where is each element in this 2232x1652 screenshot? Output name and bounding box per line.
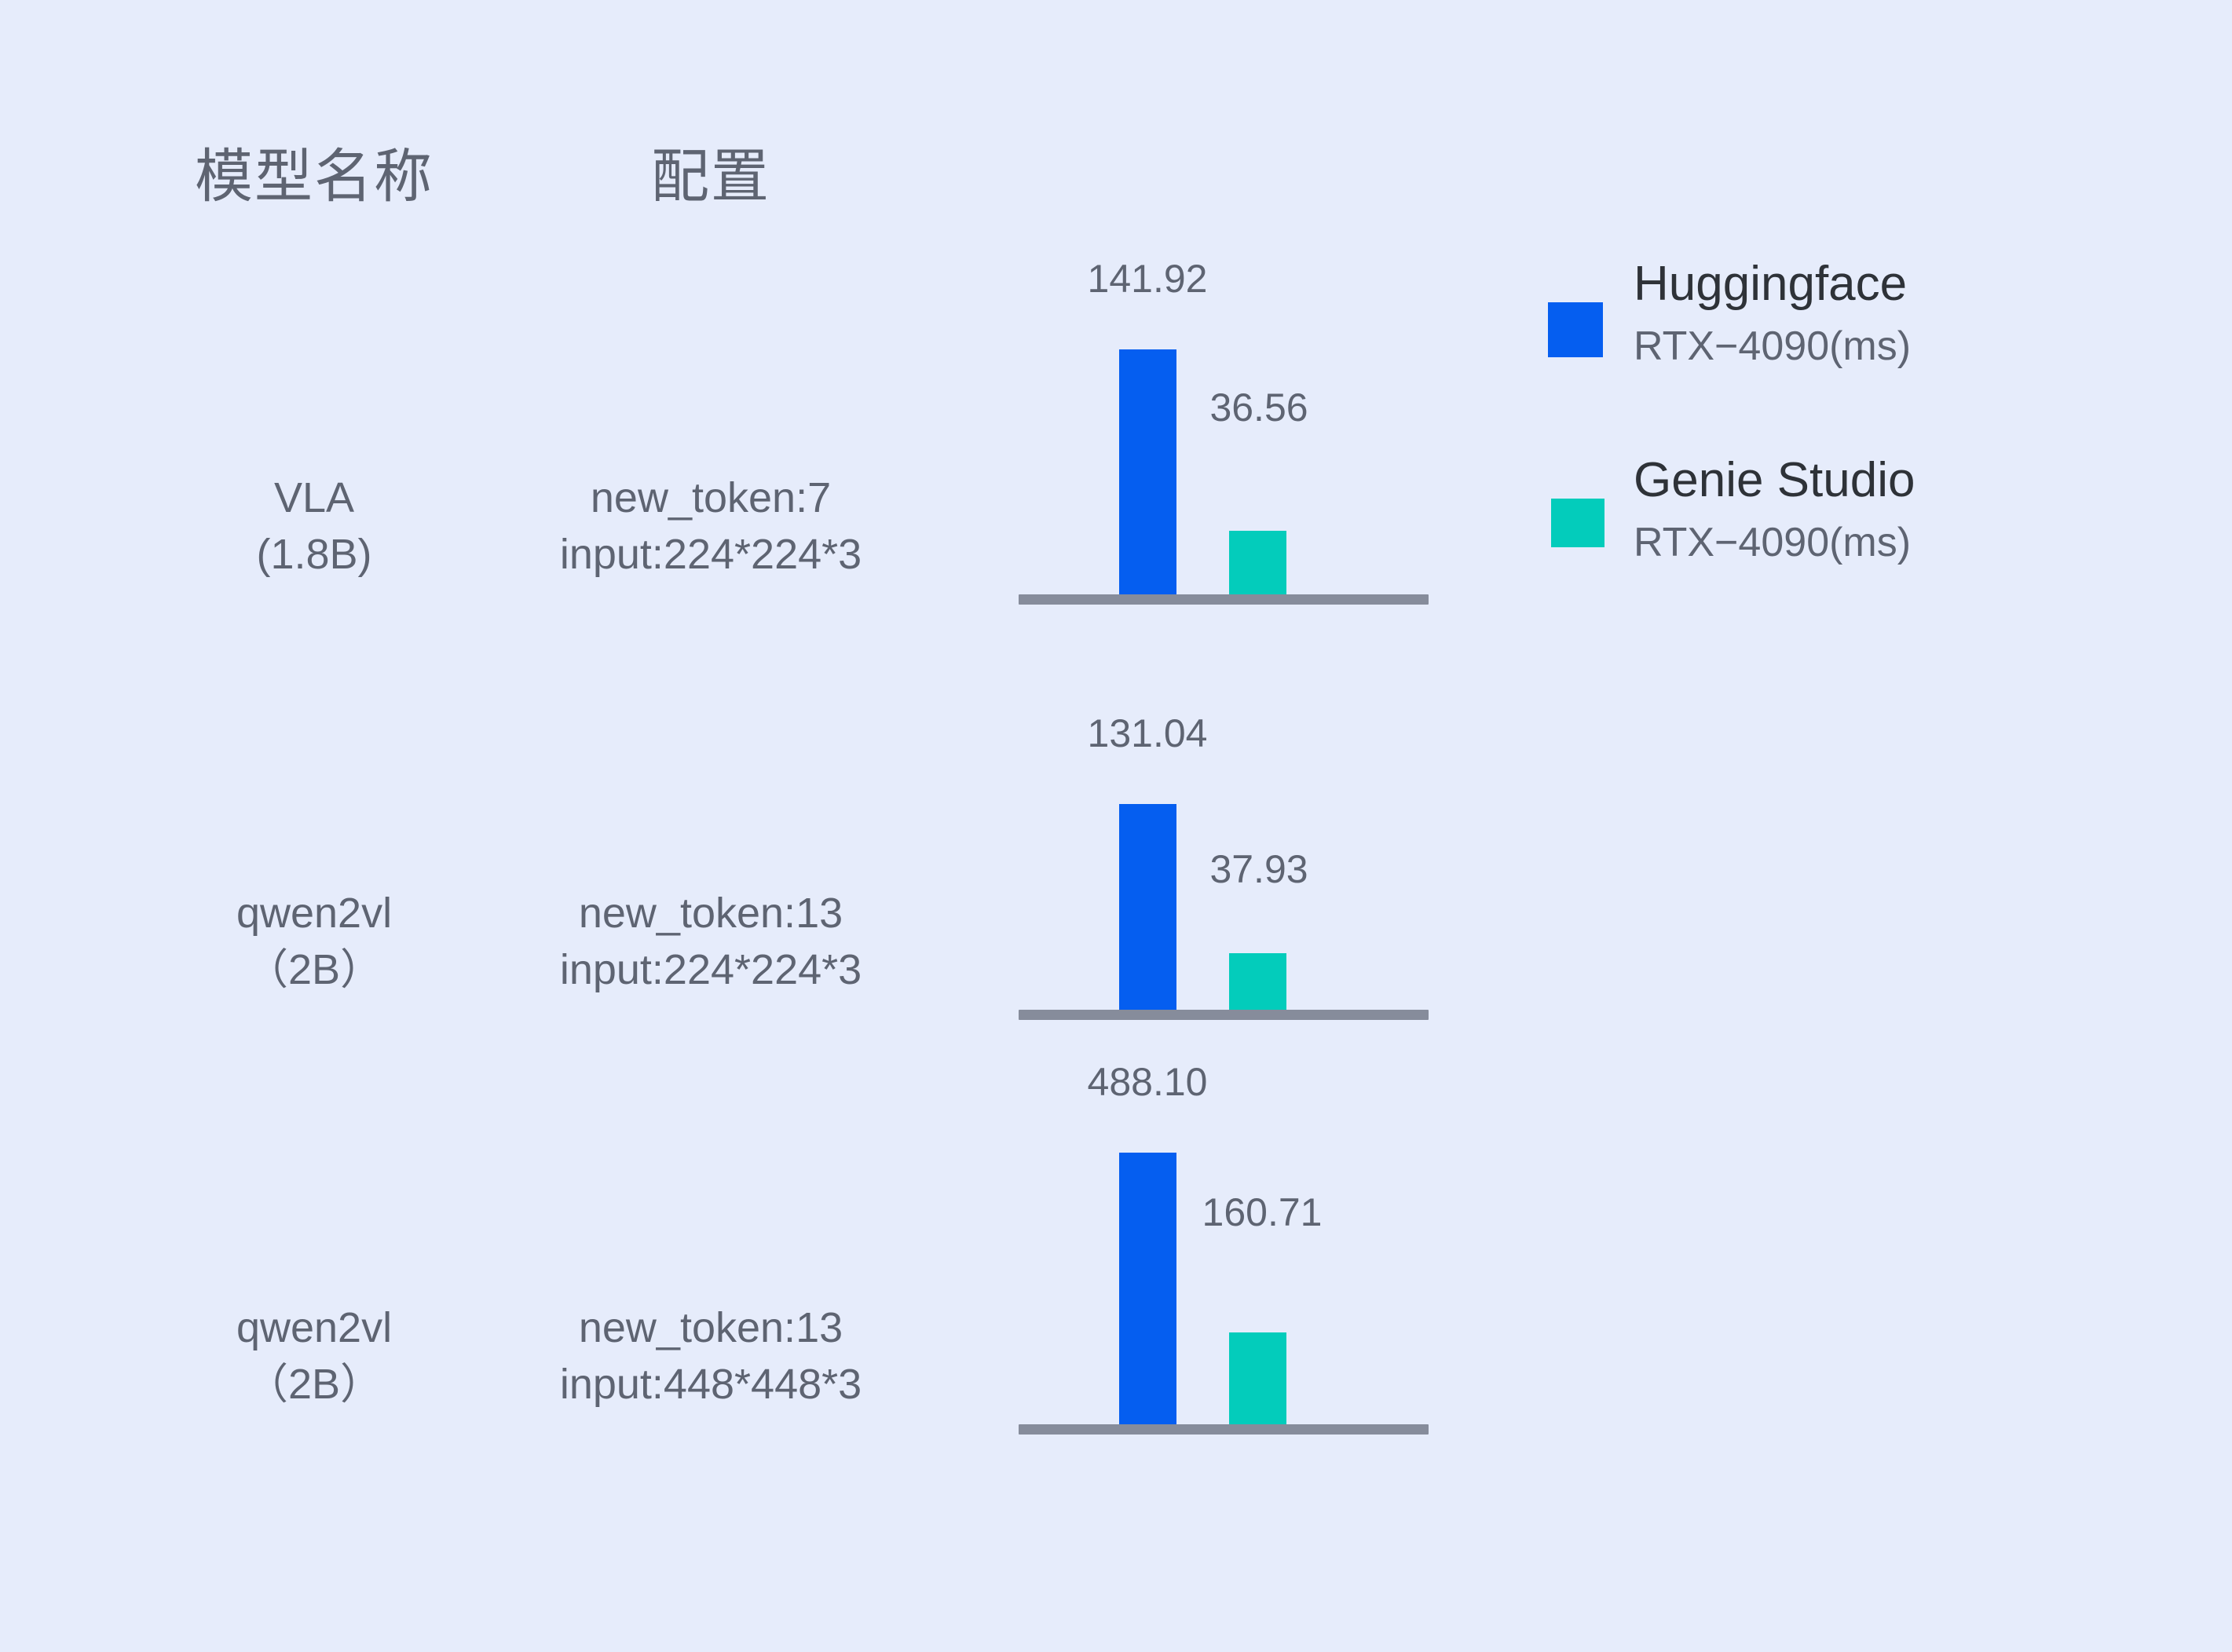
bar-huggingface: [1119, 349, 1176, 594]
chart-canvas: 模型名称 配置 VLA (1.8B) new_token:7 input:224…: [0, 0, 2232, 1652]
row-config-line1: new_token:7: [591, 474, 831, 521]
row-config: new_token:13 input:448*448*3: [560, 1299, 862, 1413]
bar-panel: 131.04 37.93: [1019, 753, 1443, 1020]
bar-value-label-genie: 160.71: [1202, 1190, 1323, 1235]
bar-genie-studio: [1229, 531, 1286, 594]
panel-baseline: [1019, 594, 1429, 605]
panel-baseline: [1019, 1010, 1429, 1020]
legend-swatch-square-icon: [1548, 302, 1603, 357]
bar-value-label-genie: 36.56: [1209, 385, 1308, 430]
chart-legend: Huggingface RTX−4090(ms) Genie Studio RT…: [1531, 236, 2081, 589]
row-config-line1: new_token:13: [579, 890, 843, 937]
legend-item-title: Huggingface: [1634, 258, 1911, 311]
bar-genie-studio: [1229, 1332, 1286, 1424]
row-config-line1: new_token:13: [579, 1304, 843, 1351]
bar-panel: 141.92 36.56: [1019, 338, 1443, 605]
bar-panel: 488.10 160.71: [1019, 1168, 1443, 1435]
panel-baseline: [1019, 1424, 1429, 1435]
row-model-name-line2: （2B）: [236, 941, 392, 998]
bar-value-label-huggingface: 141.92: [1088, 256, 1208, 302]
row-config-line2: input:224*224*3: [560, 526, 862, 583]
legend-item-title: Genie Studio: [1634, 454, 1915, 507]
legend-item-subtitle: RTX−4090(ms): [1634, 515, 1915, 570]
row-model-name-line2: (1.8B): [256, 526, 371, 583]
bar-value-label-huggingface: 488.10: [1088, 1059, 1208, 1105]
row-model-name: qwen2vl （2B）: [236, 885, 392, 999]
row-model-name-line1: qwen2vl: [236, 1304, 392, 1351]
row-model-name-line1: qwen2vl: [236, 890, 392, 937]
column-header-config: 配置: [651, 130, 770, 214]
row-config: new_token:7 input:224*224*3: [560, 470, 862, 583]
row-model-name: qwen2vl （2B）: [236, 1299, 392, 1413]
row-model-name-line2: （2B）: [236, 1356, 392, 1413]
legend-item-text: Huggingface RTX−4090(ms): [1634, 258, 1911, 374]
bar-huggingface: [1119, 1153, 1176, 1429]
row-config-line2: input:448*448*3: [560, 1356, 862, 1413]
row-model-name: VLA (1.8B): [256, 470, 371, 583]
legend-item-text: Genie Studio RTX−4090(ms): [1634, 454, 1915, 570]
row-model-name-line1: VLA: [274, 474, 354, 521]
column-header-model-name: 模型名称: [195, 130, 434, 214]
bar-genie-studio: [1229, 953, 1286, 1010]
legend-swatch-square-icon: [1551, 499, 1604, 547]
row-config-line2: input:224*224*3: [560, 941, 862, 998]
bar-value-label-genie: 37.93: [1209, 846, 1308, 892]
row-config: new_token:13 input:224*224*3: [560, 885, 862, 999]
bar-value-label-huggingface: 131.04: [1088, 711, 1208, 756]
legend-item-subtitle: RTX−4090(ms): [1634, 319, 1911, 374]
bar-huggingface: [1119, 804, 1176, 1010]
